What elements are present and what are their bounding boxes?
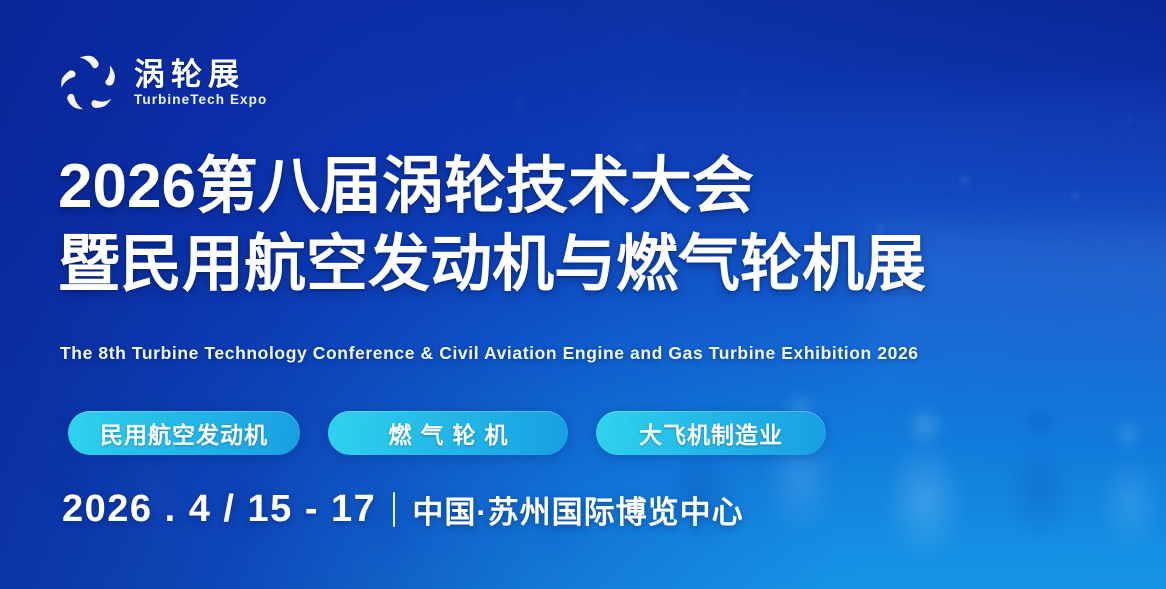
topic-pill-gas-turbine[interactable]: 燃气轮机	[328, 411, 568, 455]
event-venue: 中国·苏州国际博览中心	[412, 487, 743, 532]
banner-content: 涡轮展 TurbineTech Expo 2026第八届涡轮技术大会 暨民用航空…	[0, 0, 1166, 589]
topic-pill-group: 民用航空发动机 燃气轮机 大飞机制造业	[68, 411, 826, 455]
event-details: 2026 . 4 / 15 - 17 中国·苏州国际博览中心	[62, 487, 744, 532]
subtitle-english: The 8th Turbine Technology Conference & …	[60, 343, 919, 364]
event-date: 2026 . 4 / 15 - 17	[62, 488, 376, 531]
brand-logo[interactable]: 涡轮展 TurbineTech Expo	[58, 52, 267, 114]
title-line-1: 2026第八届涡轮技术大会	[58, 148, 926, 226]
brand-name-cn: 涡轮展	[134, 59, 267, 92]
topic-pill-large-aircraft[interactable]: 大飞机制造业	[596, 411, 826, 455]
brand-logo-text: 涡轮展 TurbineTech Expo	[134, 59, 267, 106]
turbine-impeller-icon	[58, 52, 120, 114]
expo-banner: 涡轮展 TurbineTech Expo 2026第八届涡轮技术大会 暨民用航空…	[0, 0, 1166, 589]
page-title: 2026第八届涡轮技术大会 暨民用航空发动机与燃气轮机展	[58, 148, 926, 304]
vertical-divider	[393, 492, 395, 527]
brand-name-en: TurbineTech Expo	[134, 93, 267, 107]
topic-pill-civil-aviation-engine[interactable]: 民用航空发动机	[68, 411, 300, 455]
title-line-2: 暨民用航空发动机与燃气轮机展	[58, 226, 926, 304]
